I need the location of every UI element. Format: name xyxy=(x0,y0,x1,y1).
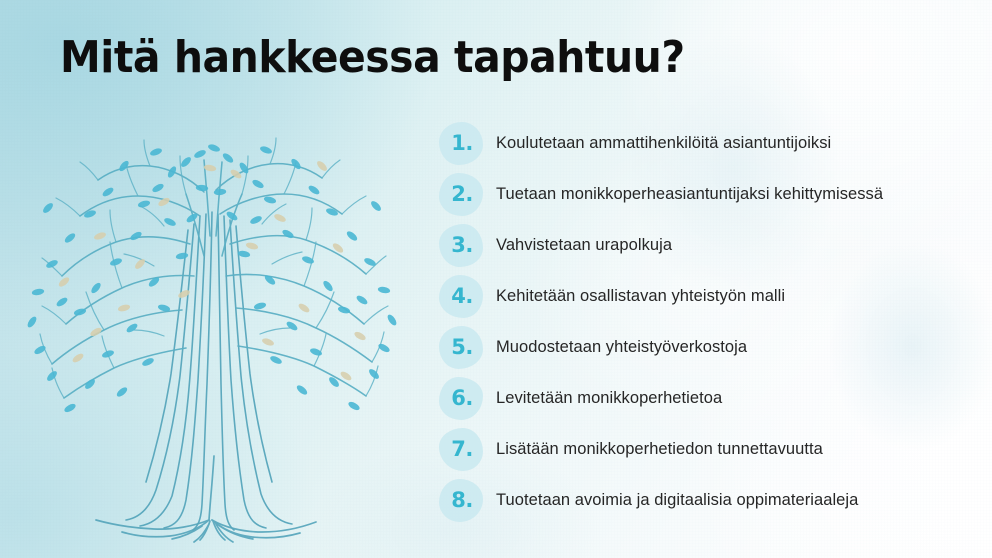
list-item-label: Kehitetään osallistavan yhteistyön malli xyxy=(496,287,785,306)
number-badge: 3. xyxy=(438,224,484,268)
number-badge: 6. xyxy=(438,377,484,421)
tree-illustration xyxy=(4,96,424,544)
list-item: 7. Lisätään monikkoperhetiedon tunnettav… xyxy=(438,424,958,475)
list-item-number: 6. xyxy=(451,386,473,410)
tree-branches xyxy=(52,160,372,398)
list-item: 8. Tuotetaan avoimia ja digitaalisia opp… xyxy=(438,475,958,526)
list-item: 2. Tuetaan monikkoperheasiantuntijaksi k… xyxy=(438,169,958,220)
list-item: 3. Vahvistetaan urapolkuja xyxy=(438,220,958,271)
number-badge: 7. xyxy=(438,428,484,472)
list-item-label: Tuetaan monikkoperheasiantuntijaksi kehi… xyxy=(496,185,883,204)
list-item-number: 7. xyxy=(451,437,473,461)
number-badge: 4. xyxy=(438,275,484,319)
list-item: 4. Kehitetään osallistavan yhteistyön ma… xyxy=(438,271,958,322)
list-item-number: 1. xyxy=(451,131,473,155)
list-item: 5. Muodostetaan yhteistyöverkostoja xyxy=(438,322,958,373)
list-item-label: Tuotetaan avoimia ja digitaalisia oppima… xyxy=(496,491,858,510)
number-badge: 8. xyxy=(438,479,484,523)
list-item-label: Koulutetaan ammattihenkilöitä asiantunti… xyxy=(496,134,831,153)
list-item-number: 8. xyxy=(451,488,473,512)
tree-roots xyxy=(96,456,316,542)
numbered-list: 1. Koulutetaan ammattihenkilöitä asiantu… xyxy=(438,118,958,526)
number-badge: 2. xyxy=(438,173,484,217)
number-badge: 5. xyxy=(438,326,484,370)
list-item-label: Muodostetaan yhteistyöverkostoja xyxy=(496,338,747,357)
list-item: 1. Koulutetaan ammattihenkilöitä asiantu… xyxy=(438,118,958,169)
number-badge: 1. xyxy=(438,122,484,166)
slide-canvas: Mitä hankkeessa tapahtuu? xyxy=(0,0,992,558)
list-item-number: 4. xyxy=(451,284,473,308)
list-item-number: 2. xyxy=(451,182,473,206)
list-item-number: 3. xyxy=(451,233,473,257)
page-title: Mitä hankkeessa tapahtuu? xyxy=(60,32,685,83)
list-item-label: Vahvistetaan urapolkuja xyxy=(496,236,672,255)
list-item-number: 5. xyxy=(451,335,473,359)
list-item-label: Lisätään monikkoperhetiedon tunnettavuut… xyxy=(496,440,823,459)
list-item: 6. Levitetään monikkoperhetietoa xyxy=(438,373,958,424)
tree-trunk xyxy=(126,212,292,530)
list-item-label: Levitetään monikkoperhetietoa xyxy=(496,389,722,408)
tree-twigs xyxy=(40,138,388,398)
